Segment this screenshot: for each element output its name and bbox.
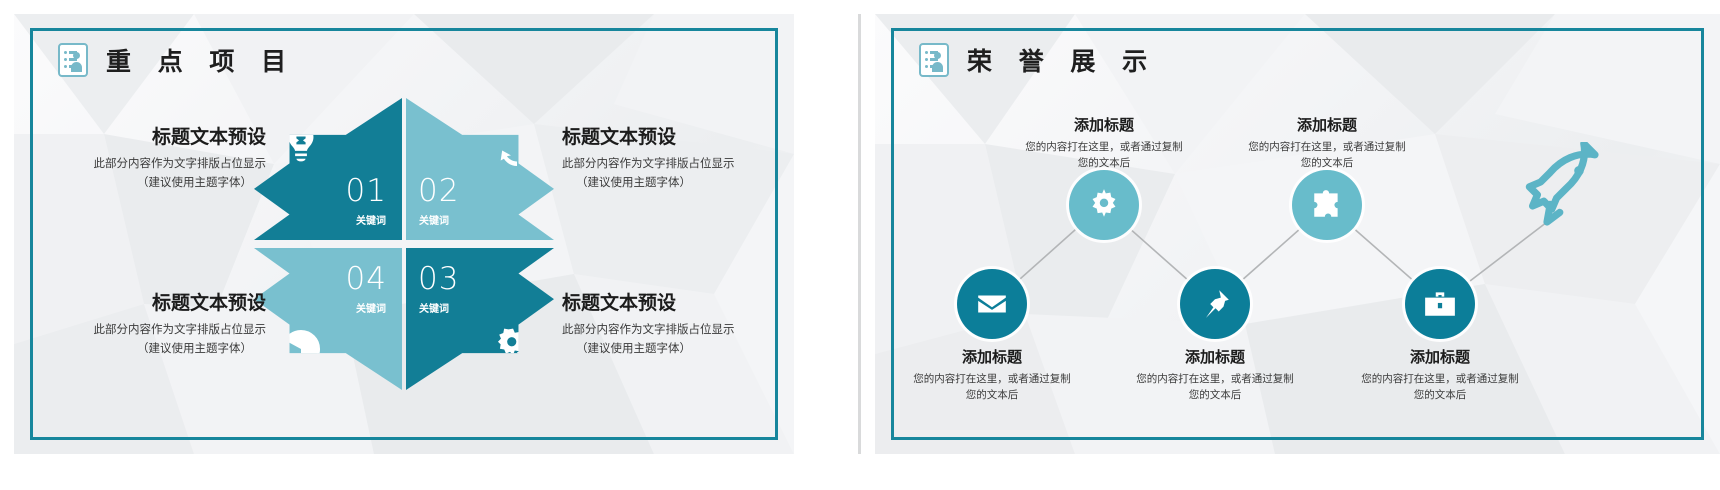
refresh-icon <box>496 126 538 168</box>
text-block-line1: 此部分内容作为文字排版占位显示 <box>34 155 266 171</box>
node-label-briefcase: 添加标题 您的内容打在这里，或者通过复制 您的文本后 <box>1335 346 1545 404</box>
star-keyword: 关键词 <box>356 212 386 227</box>
left-slide-wrapper: 重 点 项 目 01 关键词 02 关键词 <box>0 0 858 490</box>
node-gear[interactable] <box>1069 170 1139 240</box>
node-label-puzzle: 添加标题 您的内容打在这里，或者通过复制 您的文本后 <box>1222 114 1432 172</box>
node-puzzle[interactable] <box>1292 170 1362 240</box>
text-block-line2: （建议使用主题字体） <box>34 174 266 190</box>
text-block-top-left: 标题文本预设 此部分内容作为文字排版占位显示 （建议使用主题字体） <box>34 126 266 190</box>
text-block-top-right: 标题文本预设 此部分内容作为文字排版占位显示 （建议使用主题字体） <box>562 126 794 190</box>
star-keyword: 关键词 <box>419 212 449 227</box>
lightbulb-icon <box>280 122 322 164</box>
text-block-title: 标题文本预设 <box>562 126 794 150</box>
slide-deck: 重 点 项 目 01 关键词 02 关键词 <box>0 0 1720 490</box>
star-keyword: 关键词 <box>419 300 449 315</box>
text-block-line2: （建议使用主题字体） <box>562 340 794 356</box>
node-desc-line2: 您的文本后 <box>1110 388 1320 404</box>
star-keyword: 关键词 <box>356 300 386 315</box>
text-block-bottom-left: 标题文本预设 此部分内容作为文字排版占位显示 （建议使用主题字体） <box>34 292 266 356</box>
star-diagram: 01 关键词 02 关键词 <box>254 98 554 390</box>
right-slide: 荣 誉 展 示 <box>875 14 1720 454</box>
star-number: 02 <box>418 176 459 207</box>
gear-icon <box>1087 188 1121 222</box>
page-title: 重 点 项 目 <box>106 42 295 78</box>
node-briefcase[interactable] <box>1405 269 1475 339</box>
node-title: 添加标题 <box>1335 346 1545 367</box>
envelope-icon <box>975 287 1009 321</box>
node-desc-line1: 您的内容打在这里，或者通过复制 <box>1222 140 1432 156</box>
star-number: 01 <box>346 176 387 207</box>
node-desc-line2: 您的文本后 <box>887 388 1097 404</box>
node-title: 添加标题 <box>999 114 1209 135</box>
text-block-title: 标题文本预设 <box>34 292 266 316</box>
node-desc-line2: 您的文本后 <box>1222 156 1432 172</box>
node-desc-line1: 您的内容打在这里，或者通过复制 <box>1110 372 1320 388</box>
text-block-title: 标题文本预设 <box>562 292 794 316</box>
node-desc-line2: 您的文本后 <box>999 156 1209 172</box>
node-label-gear: 添加标题 您的内容打在这里，或者通过复制 您的文本后 <box>999 114 1209 172</box>
puzzle-icon <box>1310 188 1344 222</box>
node-desc-line1: 您的内容打在这里，或者通过复制 <box>887 372 1097 388</box>
node-title: 添加标题 <box>887 346 1097 367</box>
node-envelope[interactable] <box>957 269 1027 339</box>
text-block-line2: （建议使用主题字体） <box>562 174 794 190</box>
pie-chart-icon <box>280 328 322 370</box>
text-block-line1: 此部分内容作为文字排版占位显示 <box>34 321 266 337</box>
node-label-envelope: 添加标题 您的内容打在这里，或者通过复制 您的文本后 <box>887 346 1097 404</box>
node-desc-line1: 您的内容打在这里，或者通过复制 <box>1335 372 1545 388</box>
star-segment-04[interactable]: 04 关键词 <box>254 248 402 390</box>
gears-icon <box>496 326 538 368</box>
node-title: 添加标题 <box>1222 114 1432 135</box>
briefcase-icon <box>1423 287 1457 321</box>
rocket-icon <box>1515 142 1611 238</box>
text-block-line1: 此部分内容作为文字排版占位显示 <box>562 321 794 337</box>
text-block-bottom-right: 标题文本预设 此部分内容作为文字排版占位显示 （建议使用主题字体） <box>562 292 794 356</box>
star-segment-03[interactable]: 03 关键词 <box>406 248 554 390</box>
star-segment-02[interactable]: 02 关键词 <box>406 98 554 240</box>
node-desc-line1: 您的内容打在这里，或者通过复制 <box>999 140 1209 156</box>
left-slide-header: 重 点 项 目 <box>58 42 295 78</box>
node-pushpin[interactable] <box>1180 269 1250 339</box>
node-desc-line2: 您的文本后 <box>1335 388 1545 404</box>
left-slide: 重 点 项 目 01 关键词 02 关键词 <box>14 14 794 454</box>
pushpin-icon <box>1198 287 1232 321</box>
right-slide-wrapper: 荣 誉 展 示 <box>861 0 1720 490</box>
node-label-pushpin: 添加标题 您的内容打在这里，或者通过复制 您的文本后 <box>1110 346 1320 404</box>
node-title: 添加标题 <box>1110 346 1320 367</box>
star-number: 03 <box>418 264 459 295</box>
text-block-line1: 此部分内容作为文字排版占位显示 <box>562 155 794 171</box>
star-segment-01[interactable]: 01 关键词 <box>254 98 402 240</box>
text-block-line2: （建议使用主题字体） <box>34 340 266 356</box>
star-number: 04 <box>346 264 387 295</box>
id-card-icon <box>58 43 88 77</box>
text-block-title: 标题文本预设 <box>34 126 266 150</box>
